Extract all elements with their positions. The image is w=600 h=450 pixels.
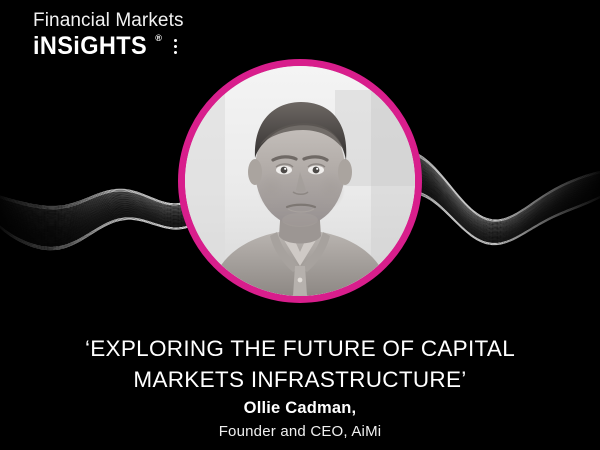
headline-line-2: MARKETS INFRASTRUCTURE’ [0, 364, 600, 395]
speaker-portrait [178, 59, 422, 303]
three-vertical-dots-icon [174, 39, 177, 54]
registered-trademark-icon: ® [155, 34, 162, 43]
brand-line-financial-markets: Financial Markets [33, 10, 184, 32]
speaker-role: Founder and CEO, AiMi [0, 421, 600, 442]
brand-logo: Financial Markets iNSiGHTS ® [33, 10, 184, 59]
headline-line-1: ‘EXPLORING THE FUTURE OF CAPITAL [0, 333, 600, 364]
brand-wordmark-insights: iNSiGHTS [33, 33, 147, 59]
portrait-photo [185, 66, 415, 296]
promo-slide: Financial Markets iNSiGHTS ® [0, 0, 600, 450]
headline: ‘EXPLORING THE FUTURE OF CAPITAL MARKETS… [0, 333, 600, 395]
speaker-credit: Ollie Cadman, Founder and CEO, AiMi [0, 398, 600, 442]
speaker-name: Ollie Cadman, [0, 398, 600, 419]
